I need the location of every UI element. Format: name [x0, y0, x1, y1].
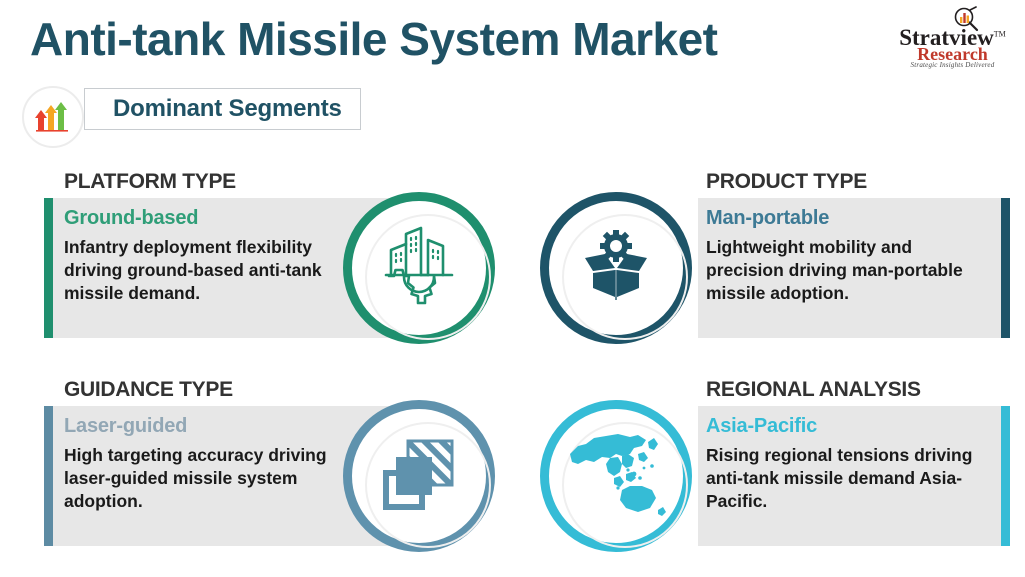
ascending-arrows-icon	[34, 102, 72, 132]
quadrant-heading: PRODUCT TYPE	[706, 170, 867, 194]
quadrant-accent-bar	[44, 198, 53, 338]
quadrant-accent-bar	[44, 406, 53, 546]
page-title: Anti-tank Missile System Market	[30, 12, 718, 66]
quadrant-platform-type: PLATFORM TYPE Ground-based Infantry depl…	[40, 170, 520, 355]
logo-trademark: TM	[994, 29, 1006, 38]
asia-pacific-map-icon	[564, 424, 668, 529]
quadrant-product-type: PRODUCT TYPE Man-portable Lightweight mo…	[530, 170, 1010, 355]
quadrant-accent-bar	[1001, 198, 1010, 338]
quadrant-guidance-type: GUIDANCE TYPE Laser-guided High targetin…	[40, 378, 520, 563]
quadrant-icon-medallion	[540, 400, 692, 552]
quadrant-description: Lightweight mobility and precision drivi…	[706, 236, 974, 305]
quadrant-heading: REGIONAL ANALYSIS	[706, 378, 921, 402]
quadrant-accent-bar	[1001, 406, 1010, 546]
quadrant-icon-medallion	[343, 192, 495, 344]
quadrant-subtitle: Laser-guided	[64, 415, 187, 438]
quadrant-description: Infantry deployment flexibility driving …	[64, 236, 329, 305]
quadrant-description: Rising regional tensions driving anti-ta…	[706, 444, 974, 513]
quadrant-subtitle: Ground-based	[64, 207, 198, 230]
quadrant-subtitle: Man-portable	[706, 207, 829, 230]
open-box-gear-icon	[571, 221, 661, 316]
quadrant-subtitle: Asia-Pacific	[706, 415, 817, 438]
quadrant-heading: PLATFORM TYPE	[64, 170, 236, 194]
quadrant-regional-analysis: REGIONAL ANALYSIS Asia-Pacific Rising re…	[530, 378, 1010, 563]
quadrant-icon-medallion	[540, 192, 692, 344]
quadrant-description: High targeting accuracy driving laser-gu…	[64, 444, 329, 513]
quadrant-heading: GUIDANCE TYPE	[64, 378, 233, 402]
logo-tagline: Strategic Insights Delivered	[890, 61, 1015, 69]
badge-icon-circle	[22, 86, 84, 148]
quadrant-icon-medallion	[343, 400, 495, 552]
buildings-gear-icon	[373, 220, 465, 317]
badge-box: Dominant Segments	[84, 88, 361, 130]
badge-label: Dominant Segments	[113, 95, 342, 123]
company-logo: StratviewTM Research Strategic Insights …	[890, 6, 1015, 68]
overlapping-layers-icon	[376, 431, 462, 522]
